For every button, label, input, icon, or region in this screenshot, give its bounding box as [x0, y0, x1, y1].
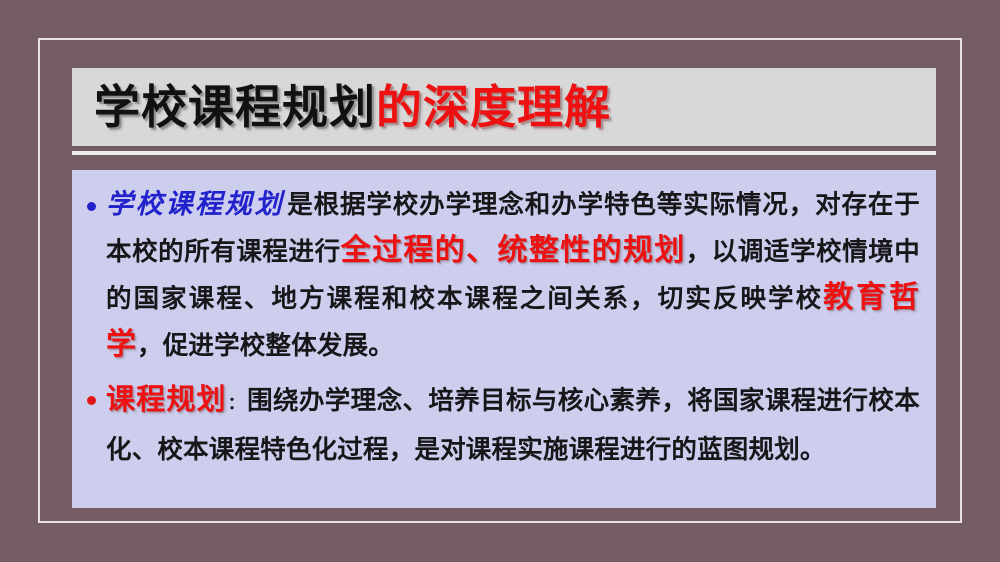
title-box: 学校课程规划的深度理解 [72, 68, 936, 146]
title-plain-run: 学校课程规划 [94, 81, 376, 133]
bullet-2-run-colon: ： [227, 394, 247, 413]
bullet-1-run-script: 学校课程规划 [106, 189, 287, 220]
bullet-item: 课程规划：围绕办学理念、培养目标与核心素养，将国家课程进行校本化、校本课程特色化… [84, 377, 920, 473]
title-divider-rule [72, 151, 936, 155]
bullet-1-run-red-1: 全过程的、统整性的规划 [341, 234, 686, 267]
bullet-2-run-red-head: 课程规划 [106, 384, 227, 416]
title-accent-run: 的深度理解 [376, 81, 611, 133]
page-title: 学校课程规划的深度理解 [72, 84, 611, 130]
bullet-item: 学校课程规划是根据学校办学理念和办学特色等实际情况，对存在于本校的所有课程进行全… [84, 182, 920, 369]
bullet-1-run-plain-3: ，促进学校整体发展。 [137, 332, 394, 360]
body-box: 学校课程规划是根据学校办学理念和办学特色等实际情况，对存在于本校的所有课程进行全… [72, 170, 936, 508]
slide-root: 学校课程规划的深度理解 学校课程规划是根据学校办学理念和办学特色等实际情况，对存… [0, 0, 1000, 562]
